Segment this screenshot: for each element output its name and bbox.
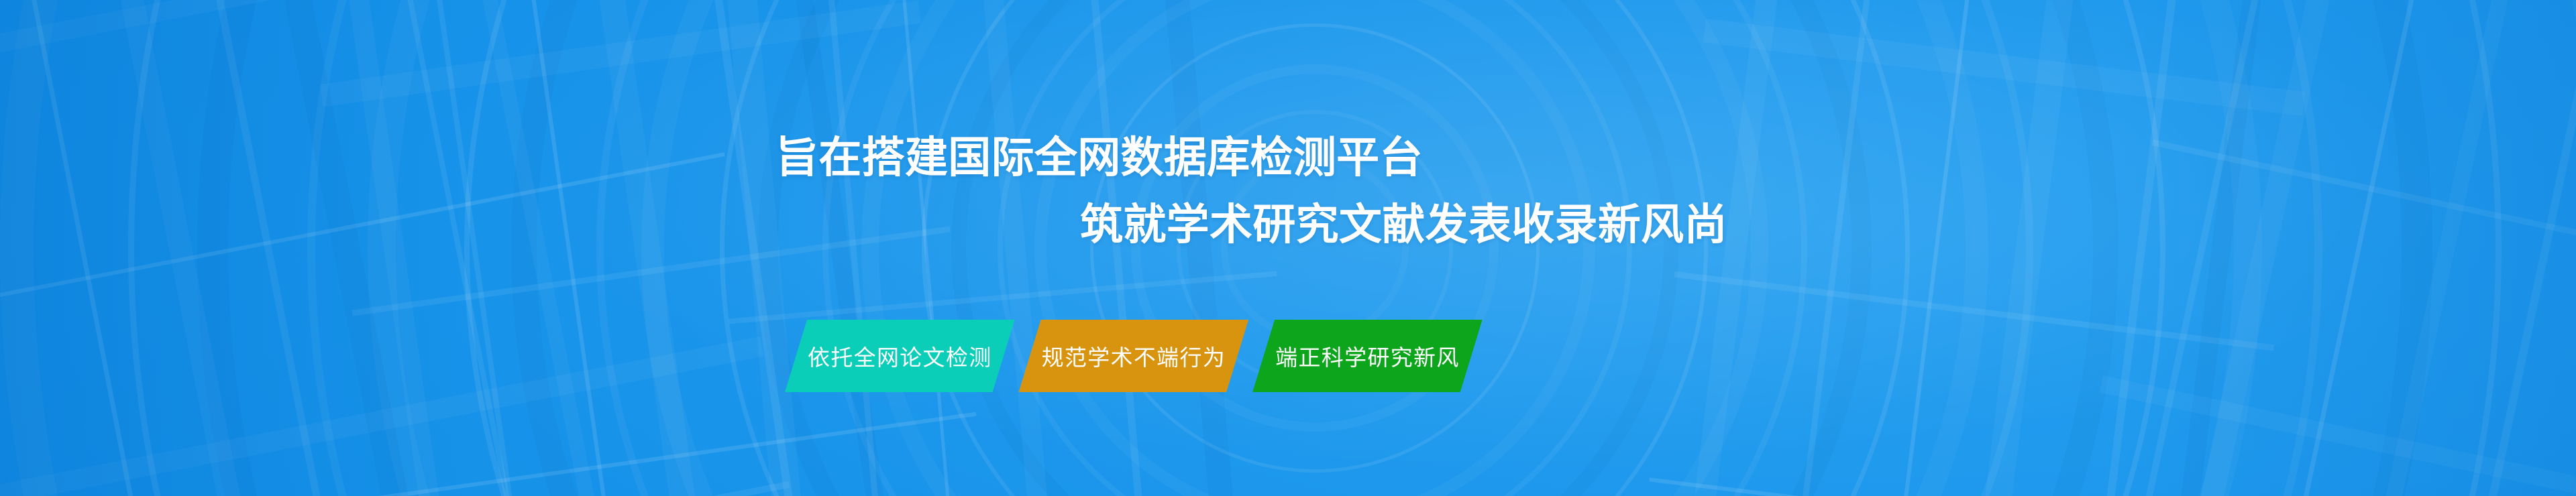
promo-banner: 旨在搭建国际全网数据库检测平台 筑就学术研究文献发表收录新风尚 依托全网论文检测… — [0, 0, 2576, 496]
feature-tag-strip: 依托全网论文检测 规范学术不端行为 端正科学研究新风 — [785, 320, 1483, 392]
feature-tag-label: 端正科学研究新风 — [1275, 340, 1460, 372]
feature-tag-label: 规范学术不端行为 — [1042, 340, 1226, 372]
feature-tag-xueshu-buduan[interactable]: 规范学术不端行为 — [1019, 320, 1249, 392]
feature-tag-quanwang-jiance[interactable]: 依托全网论文检测 — [785, 320, 1015, 392]
feature-tag-label: 依托全网论文检测 — [808, 340, 992, 372]
headline-line-2: 筑就学术研究文献发表收录新风尚 — [1080, 203, 1727, 246]
feature-tag-kexue-xinfeng[interactable]: 端正科学研究新风 — [1252, 320, 1483, 392]
headline-line-1: 旨在搭建国际全网数据库检测平台 — [775, 136, 1423, 179]
